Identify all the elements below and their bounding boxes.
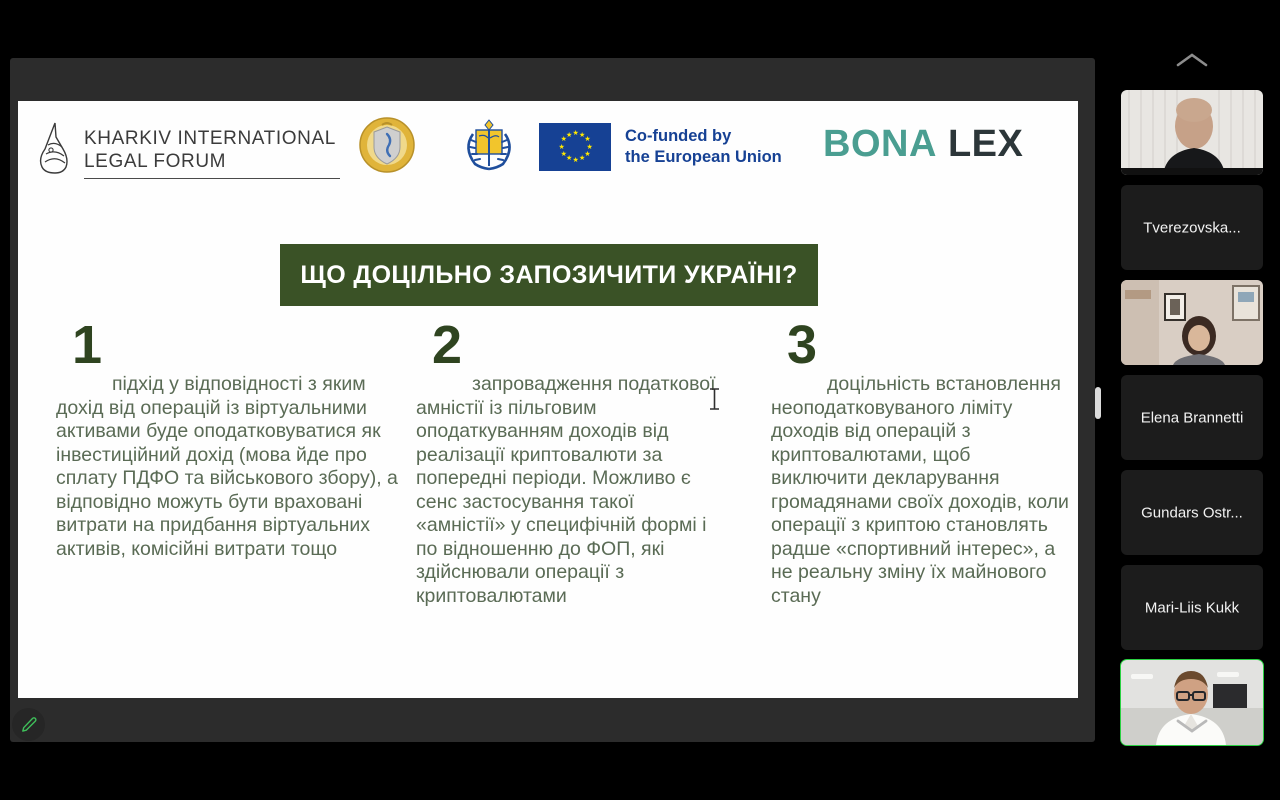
slide-column-2: 2 запровадження податкової амністії із п… [416, 323, 716, 608]
chevron-down-icon [1175, 717, 1209, 735]
column-1-number: 1 [72, 323, 401, 367]
kharkiv-forum-logo: KHARKIV INTERNATIONAL LEGAL FORUM [36, 121, 340, 179]
slide-title-banner: ЩО ДОЦІЛЬНО ЗАПОЗИЧИТИ УКРАЇНІ? [280, 244, 818, 306]
presentation-slide[interactable]: KHARKIV INTERNATIONAL LEGAL FORUM [18, 101, 1078, 698]
participant-tile-video-2[interactable] [1121, 280, 1263, 365]
prosecutor-shield-emblem-icon [358, 116, 416, 174]
kharkiv-forum-mark-icon [36, 121, 74, 177]
column-3-text: доцільність встановлення неоподатковуван… [771, 373, 1071, 608]
participant-tile-tverezovska[interactable]: Tverezovska... [1121, 185, 1263, 270]
video-thumbnail [1121, 90, 1263, 175]
slide-columns: 1 підхід у відповідності з яким дохід ві… [18, 323, 1078, 608]
eu-text-line1: Co-funded by [625, 126, 782, 147]
participant-name: Tverezovska... [1121, 219, 1263, 236]
participant-name: Gundars Ostr... [1121, 504, 1263, 521]
participant-name: Mari-Liis Kukk [1121, 599, 1263, 616]
eu-flag-icon: ★ ★ ★ ★ ★ ★ ★ ★ ★ ★ ★ ★ [539, 123, 611, 171]
eu-cofunded-logo: ★ ★ ★ ★ ★ ★ ★ ★ ★ ★ ★ ★ Co-funded [539, 123, 782, 171]
participant-tile-mari-liis-kukk[interactable]: Mari-Liis Kukk [1121, 565, 1263, 650]
slide-title: ЩО ДОЦІЛЬНО ЗАПОЗИЧИТИ УКРАЇНІ? [300, 261, 797, 290]
forum-logo-line1: KHARKIV INTERNATIONAL [84, 127, 340, 150]
participant-tile-video-1[interactable] [1121, 90, 1263, 175]
slide-column-1: 1 підхід у відповідності з яким дохід ві… [56, 323, 401, 561]
participant-tile-gundars-ostr[interactable]: Gundars Ostr... [1121, 470, 1263, 555]
pencil-icon [20, 716, 38, 734]
annotate-button[interactable] [12, 708, 45, 741]
bonalex-bona: BONA [823, 123, 937, 165]
participant-tiles: Tverezovska... Elena Br [1104, 90, 1280, 755]
video-thumbnail [1121, 280, 1263, 365]
participant-filmstrip: Tverezovska... Elena Br [1104, 0, 1280, 800]
slide-scroll-handle[interactable] [1095, 387, 1101, 419]
forum-logo-line2: LEGAL FORUM [84, 150, 340, 173]
chevron-up-icon [1175, 51, 1209, 69]
bonalex-logo: BONA LEX [823, 123, 1023, 166]
forum-logo-rule [84, 178, 340, 179]
filmstrip-scroll-up-button[interactable] [1104, 40, 1280, 80]
participant-name: Elena Brannetti [1121, 409, 1263, 426]
filmstrip-scroll-down-button[interactable] [1104, 706, 1280, 746]
text-cursor-icon [709, 388, 720, 410]
bonalex-lex: LEX [948, 123, 1023, 165]
slide-logo-bar: KHARKIV INTERNATIONAL LEGAL FORUM [18, 101, 1078, 199]
column-1-text: підхід у відповідності з яким дохід від … [56, 373, 401, 561]
participant-tile-elena-brannetti[interactable]: Elena Brannetti [1121, 375, 1263, 460]
meeting-window: KHARKIV INTERNATIONAL LEGAL FORUM [0, 0, 1280, 800]
shared-screen-stage: KHARKIV INTERNATIONAL LEGAL FORUM [10, 58, 1095, 742]
eu-text-line2: the European Union [625, 147, 782, 168]
column-2-text: запровадження податкової амністії із піл… [416, 373, 716, 608]
slide-column-3: 3 доцільність встановлення неоподатковув… [771, 323, 1071, 608]
column-2-number: 2 [432, 323, 716, 367]
column-3-number: 3 [787, 323, 1071, 367]
academy-laurel-emblem-icon [459, 114, 519, 176]
